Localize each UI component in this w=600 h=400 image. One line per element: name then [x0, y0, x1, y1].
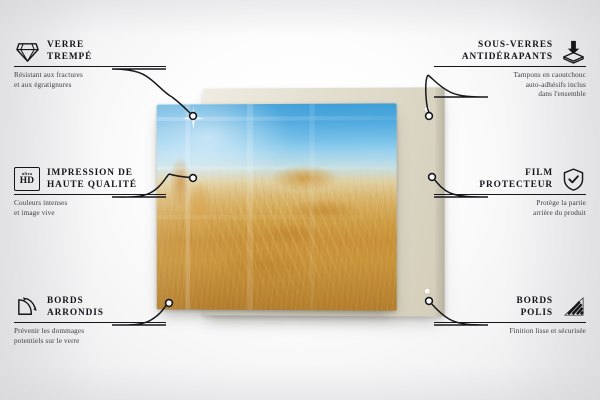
feature-rule — [14, 322, 166, 323]
feature-title: FILMPROTECTEUR — [479, 167, 553, 192]
glass-panel-image — [157, 103, 397, 310]
feature-header: ultra HD IMPRESSION DEHAUTE QUALITÉ — [14, 166, 166, 192]
feature-header: SOUS-VERRESANTIDÉRAPANTS — [434, 38, 586, 64]
feature-rule — [434, 66, 586, 67]
feature-header: VERRETREMPÉ — [14, 38, 166, 64]
feature-bords-polis: BORDSPOLIS Finition lisse et sécurisée — [434, 294, 586, 337]
feature-title: SOUS-VERRESANTIDÉRAPANTS — [462, 39, 553, 64]
wheat-ears-highlight — [157, 103, 397, 310]
feature-film-protecteur: FILMPROTECTEUR Protège la partiearrière … — [434, 166, 586, 218]
polished-edge-icon — [560, 294, 586, 320]
feature-rule — [14, 194, 166, 195]
shield-check-icon — [560, 166, 586, 192]
feature-header: BORDSPOLIS — [434, 294, 586, 320]
feature-title: BORDSARRONDIS — [47, 295, 104, 320]
mounting-screw — [424, 106, 430, 112]
feature-caption: Résistant aux fractureset aux égratignur… — [14, 71, 166, 90]
feature-rule — [14, 66, 166, 67]
feature-rule — [434, 194, 586, 195]
feature-caption: Tampons en caoutchoucauto-adhésifs inclu… — [434, 71, 586, 100]
feature-title: VERRETREMPÉ — [47, 39, 92, 64]
feature-header: FILMPROTECTEUR — [434, 166, 586, 192]
product-mockup — [150, 86, 450, 326]
ultra-hd-icon: ultra HD — [14, 166, 40, 192]
diamond-icon — [14, 38, 40, 64]
feature-caption: Prévenir les dommagespotentiels sur le v… — [14, 327, 166, 346]
feature-title: IMPRESSION DEHAUTE QUALITÉ — [47, 167, 137, 192]
feature-caption: Protège la partiearrière du produit — [434, 199, 586, 218]
feature-sous-verres-antiderapants: SOUS-VERRESANTIDÉRAPANTS Tampons en caou… — [434, 38, 586, 100]
feature-verre-trempe: VERRETREMPÉ Résistant aux fractureset au… — [14, 38, 166, 90]
hd-icon-large-text: HD — [20, 177, 34, 186]
rounded-corner-icon — [14, 294, 40, 320]
feature-header: BORDSARRONDIS — [14, 294, 166, 320]
feature-title: BORDSPOLIS — [516, 295, 553, 320]
feature-impression-haute-qualite: ultra HD IMPRESSION DEHAUTE QUALITÉ Coul… — [14, 166, 166, 218]
mounting-screw — [424, 288, 430, 294]
adhesive-pad-icon — [560, 38, 586, 64]
feature-caption: Couleurs intenseset image vive — [14, 199, 166, 218]
feature-bords-arrondis: BORDSARRONDIS Prévenir les dommagespoten… — [14, 294, 166, 346]
feature-rule — [434, 322, 586, 323]
infographic-canvas: VERRETREMPÉ Résistant aux fractureset au… — [0, 0, 600, 400]
feature-caption: Finition lisse et sécurisée — [434, 327, 586, 337]
